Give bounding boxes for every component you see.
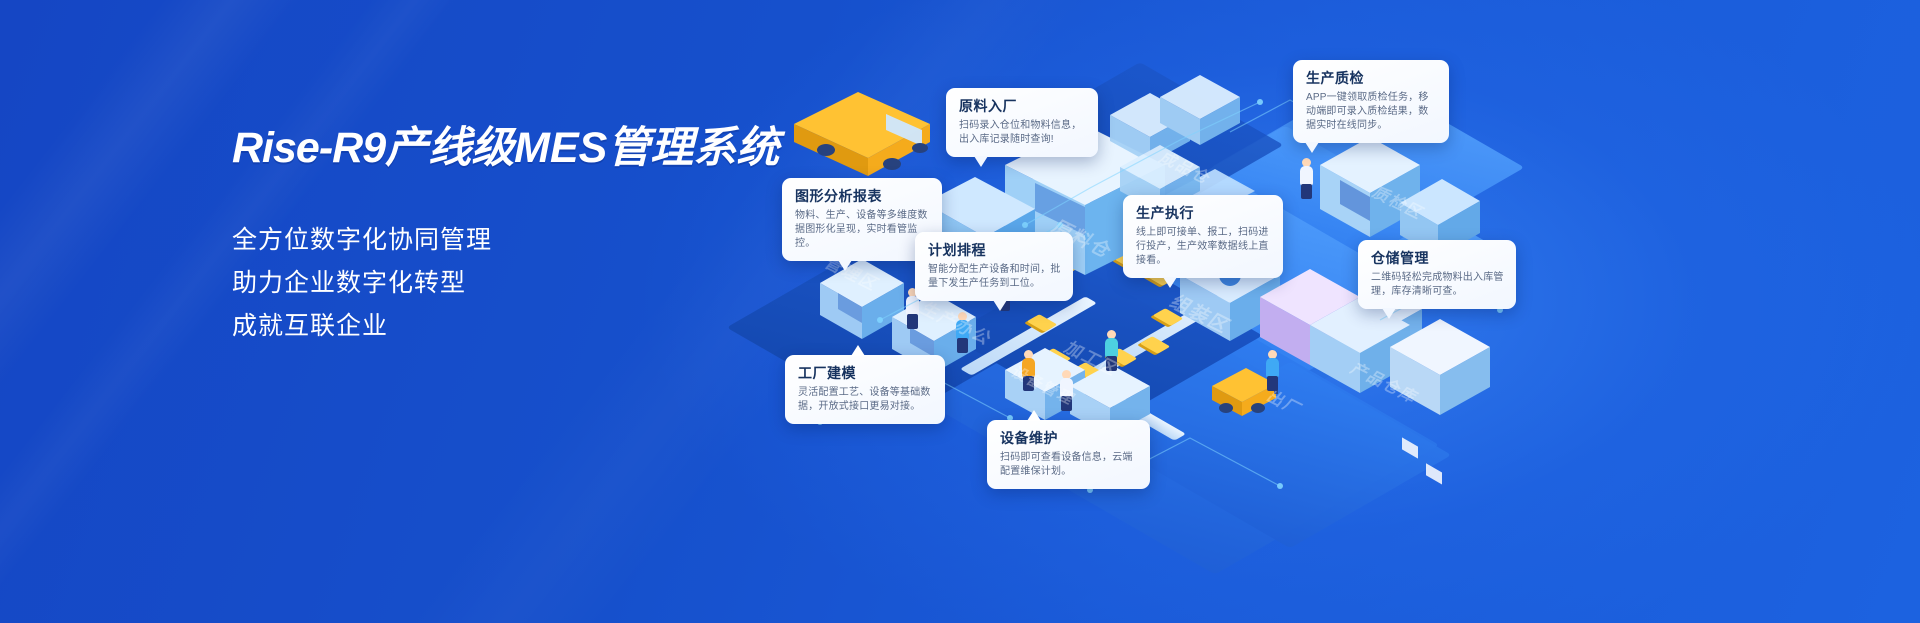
info-card-title: 计划排程 bbox=[928, 241, 1061, 259]
info-card-desc: 智能分配生产设备和时间，批量下发生产任务到工位。 bbox=[928, 263, 1061, 291]
info-card-desc: 扫码录入仓位和物料信息，出入库记录随时查询! bbox=[959, 119, 1086, 147]
callout-tail bbox=[974, 156, 988, 167]
callout-tail bbox=[1305, 142, 1319, 153]
info-card-raw-material-inbound[interactable]: 原料入厂 扫码录入仓位和物料信息，出入库记录随时查询! bbox=[946, 88, 1098, 157]
callout-tail bbox=[1163, 277, 1177, 288]
callout-tail bbox=[838, 260, 852, 271]
page-title-cn: 产线级MES管理系统 bbox=[385, 124, 779, 172]
info-card-title: 生产执行 bbox=[1136, 204, 1271, 222]
info-card-production-quality-inspection[interactable]: 生产质检 APP一键领取质检任务，移动端即可录入质检结果，数据实时在线同步。 bbox=[1293, 60, 1449, 143]
callout-tail bbox=[1382, 308, 1396, 319]
callout-tail bbox=[993, 300, 1007, 311]
info-card-desc: 物料、生产、设备等多维度数据图形化呈现，实时看管监控。 bbox=[795, 209, 930, 251]
info-card-desc: 灵活配置工艺、设备等基础数据，开放式接口更易对接。 bbox=[798, 386, 933, 414]
info-card-warehouse-management[interactable]: 仓储管理 二维码轻松完成物料出入库管理，库存清晰可查。 bbox=[1358, 240, 1516, 309]
info-card-desc: APP一键领取质检任务，移动端即可录入质检结果，数据实时在线同步。 bbox=[1306, 91, 1437, 133]
info-card-production-execution[interactable]: 生产执行 线上即可接单、报工，扫码进行投产，生产效率数据线上直接看。 bbox=[1123, 195, 1283, 278]
callout-tail bbox=[851, 345, 865, 356]
page-title-en: Rise-R9 bbox=[232, 124, 385, 172]
info-card-title: 设备维护 bbox=[1000, 429, 1138, 447]
hero-subtitle-line-2: 助力企业数字化转型 bbox=[232, 262, 852, 305]
info-card-desc: 线上即可接单、报工，扫码进行投产，生产效率数据线上直接看。 bbox=[1136, 226, 1271, 268]
info-card-title: 图形分析报表 bbox=[795, 187, 930, 205]
info-card-equipment-maintenance[interactable]: 设备维护 扫码即可查看设备信息，云端配置维保计划。 bbox=[987, 420, 1150, 489]
hero-banner: Rise-R9产线级MES管理系统 全方位数字化协同管理 助力企业数字化转型 成… bbox=[0, 0, 1920, 623]
hero-subtitle-line-1: 全方位数字化协同管理 bbox=[232, 219, 852, 262]
info-card-title: 生产质检 bbox=[1306, 69, 1437, 87]
info-card-desc: 扫码即可查看设备信息，云端配置维保计划。 bbox=[1000, 451, 1138, 479]
page-title: Rise-R9产线级MES管理系统 bbox=[232, 124, 852, 173]
callout-tail bbox=[1027, 410, 1041, 421]
info-card-planning-scheduling[interactable]: 计划排程 智能分配生产设备和时间，批量下发生产任务到工位。 bbox=[915, 232, 1073, 301]
info-card-factory-modeling[interactable]: 工厂建模 灵活配置工艺、设备等基础数据，开放式接口更易对接。 bbox=[785, 355, 945, 424]
isometric-factory-illustration: 管理区 生产办公 原料仓 成品仓 质检区 组装区 加工区 设备管理 出厂 产品仓… bbox=[760, 20, 1920, 623]
info-card-title: 仓储管理 bbox=[1371, 249, 1504, 267]
info-card-desc: 二维码轻松完成物料出入库管理，库存清晰可查。 bbox=[1371, 271, 1504, 299]
info-card-title: 原料入厂 bbox=[959, 97, 1086, 115]
info-card-title: 工厂建模 bbox=[798, 364, 933, 382]
